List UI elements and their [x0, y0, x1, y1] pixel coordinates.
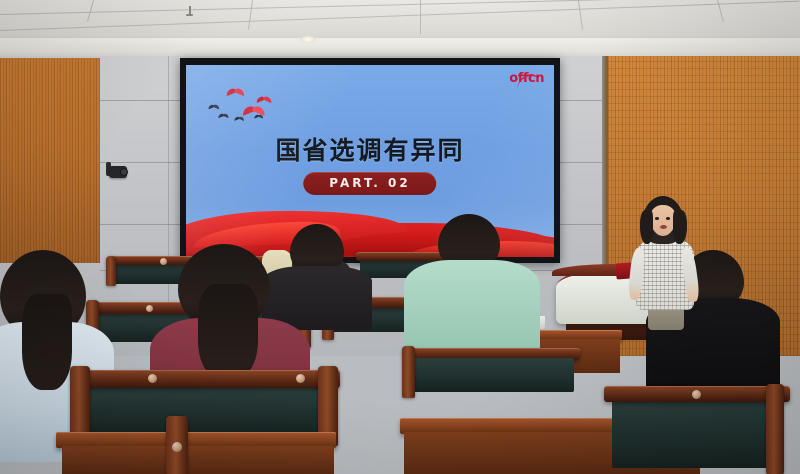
- bench-front-right-post: [766, 384, 784, 474]
- classroom-photo: offcn: [0, 0, 800, 474]
- sprinkler-icon: [186, 6, 193, 18]
- bench-front-right-seat: [612, 398, 782, 468]
- presentation-slide: offcn: [186, 65, 554, 257]
- security-camera-icon: [104, 162, 130, 182]
- projection-screen-frame: offcn: [180, 58, 560, 263]
- bench-front-knob: [172, 442, 182, 452]
- bench-mid-right-post: [402, 346, 415, 398]
- part-badge: PART. 02: [303, 172, 436, 195]
- downlight-icon: [300, 36, 316, 43]
- bench-mid-right-seat: [410, 358, 574, 392]
- left-wood-panel: [0, 58, 100, 263]
- presenter: [632, 196, 702, 326]
- flying-birds-graphic: [204, 87, 304, 135]
- desk-front-panel: [62, 446, 334, 474]
- bench-front-right-knob: [692, 390, 701, 399]
- slide-title: 国省选调有异同: [186, 131, 554, 167]
- offcn-logo: offcn: [509, 72, 544, 85]
